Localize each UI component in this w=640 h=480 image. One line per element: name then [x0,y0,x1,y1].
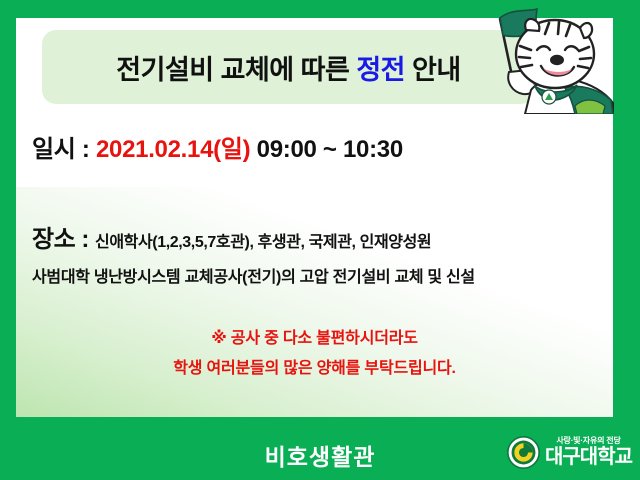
place-value: 신애학사(1,2,3,5,7호관), 후생관, 국제관, 인재양성원 [95,234,431,251]
title-text-after: 안내 [405,55,461,85]
logo-tagline: 사랑·빛·자유의 전당 [556,437,620,445]
detail-line: 사범대학 냉난방시스템 교체공사(전기)의 고압 전기설비 교체 및 신설 [32,263,475,287]
poster-content-area: 전기설비 교체에 따른 정전 안내 일시 : 2021.02.14(일) 09:… [16,18,613,417]
datetime-line: 일시 : 2021.02.14(일) 09:00 ~ 10:30 [32,129,403,164]
title-banner: 전기설비 교체에 따른 정전 안내 [42,30,535,104]
logo-wordmark: 사랑·빛·자유의 전당 대구대학교 [545,437,632,467]
notice-line-2: 학생 여러분들의 많은 양해를 부탁드립니다. [16,354,613,384]
university-logo: 사랑·빛·자유의 전당 대구대학교 [507,432,632,472]
footer-bar: 비호생활관 사랑·빛·자유의 전당 대구대학교 [0,425,640,480]
place-label: 장소 : [32,226,95,253]
logo-university-name: 대구대학교 [545,447,632,467]
datetime-date: 2021.02.14(일) [96,136,250,163]
page-title: 전기설비 교체에 따른 정전 안내 [116,48,460,87]
datetime-label: 일시 : [32,136,96,163]
notice-block: ※ 공사 중 다소 불편하시더라도 학생 여러분들의 많은 양해를 부탁드립니다… [16,324,613,384]
datetime-time: 09:00 ~ 10:30 [250,136,403,163]
place-line: 장소 : 신애학사(1,2,3,5,7호관), 후생관, 국제관, 인재양성원 [32,219,431,254]
notice-line-1: ※ 공사 중 다소 불편하시더라도 [16,324,613,354]
title-text-before: 전기설비 교체에 따른 [116,55,356,85]
title-text-highlight: 정전 [356,55,405,85]
poster-root: 전기설비 교체에 따른 정전 안내 일시 : 2021.02.14(일) 09:… [0,0,640,480]
daegu-university-emblem-icon [507,436,540,469]
